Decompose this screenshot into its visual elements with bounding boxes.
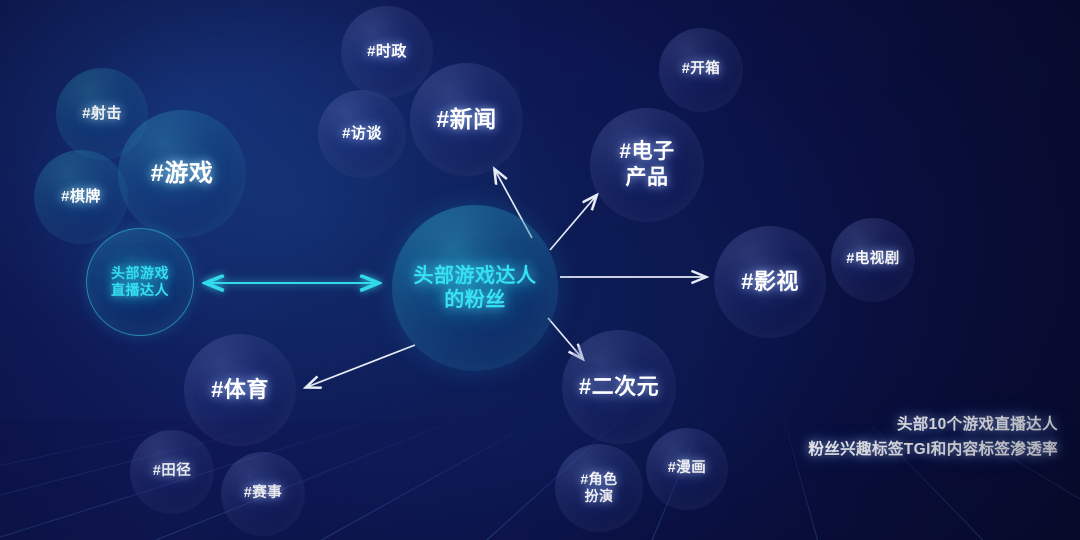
caption-line-1: 头部10个游戏直播达人	[808, 412, 1058, 437]
diagram-canvas: #射击 #棋牌 #游戏 头部游戏 直播达人 #时政 #访谈 #新闻 #开箱 #电…	[0, 0, 1080, 540]
bubble-top-game-influencer-fans[interactable]: 头部游戏达人 的粉丝	[392, 205, 558, 371]
bubble-current-affairs[interactable]: #时政	[341, 6, 433, 98]
bubble-cosplay[interactable]: #角色 扮演	[555, 444, 643, 532]
arrow-fans-to-sports	[307, 345, 415, 387]
bubble-competitions[interactable]: #赛事	[221, 452, 305, 536]
bubble-top-game-streamer[interactable]: 头部游戏 直播达人	[86, 228, 194, 336]
bubble-chess-cards[interactable]: #棋牌	[34, 150, 128, 244]
bubble-unboxing[interactable]: #开箱	[659, 28, 743, 112]
bubble-comics[interactable]: #漫画	[646, 428, 728, 510]
bubble-electronics[interactable]: #电子 产品	[590, 108, 704, 222]
bubble-gaming[interactable]: #游戏	[118, 110, 246, 238]
bubble-sports[interactable]: #体育	[184, 334, 296, 446]
bubble-anime[interactable]: #二次元	[562, 330, 676, 444]
bubble-interview[interactable]: #访谈	[318, 90, 406, 178]
bubble-tv-series[interactable]: #电视剧	[831, 218, 915, 302]
bubble-news[interactable]: #新闻	[410, 63, 523, 176]
caption: 头部10个游戏直播达人 粉丝兴趣标签TGI和内容标签渗透率	[808, 412, 1058, 462]
arrow-fans-to-electronics	[550, 196, 596, 250]
bubble-athletics[interactable]: #田径	[130, 430, 214, 514]
caption-line-2: 粉丝兴趣标签TGI和内容标签渗透率	[808, 437, 1058, 462]
bubble-film-tv[interactable]: #影视	[714, 226, 826, 338]
